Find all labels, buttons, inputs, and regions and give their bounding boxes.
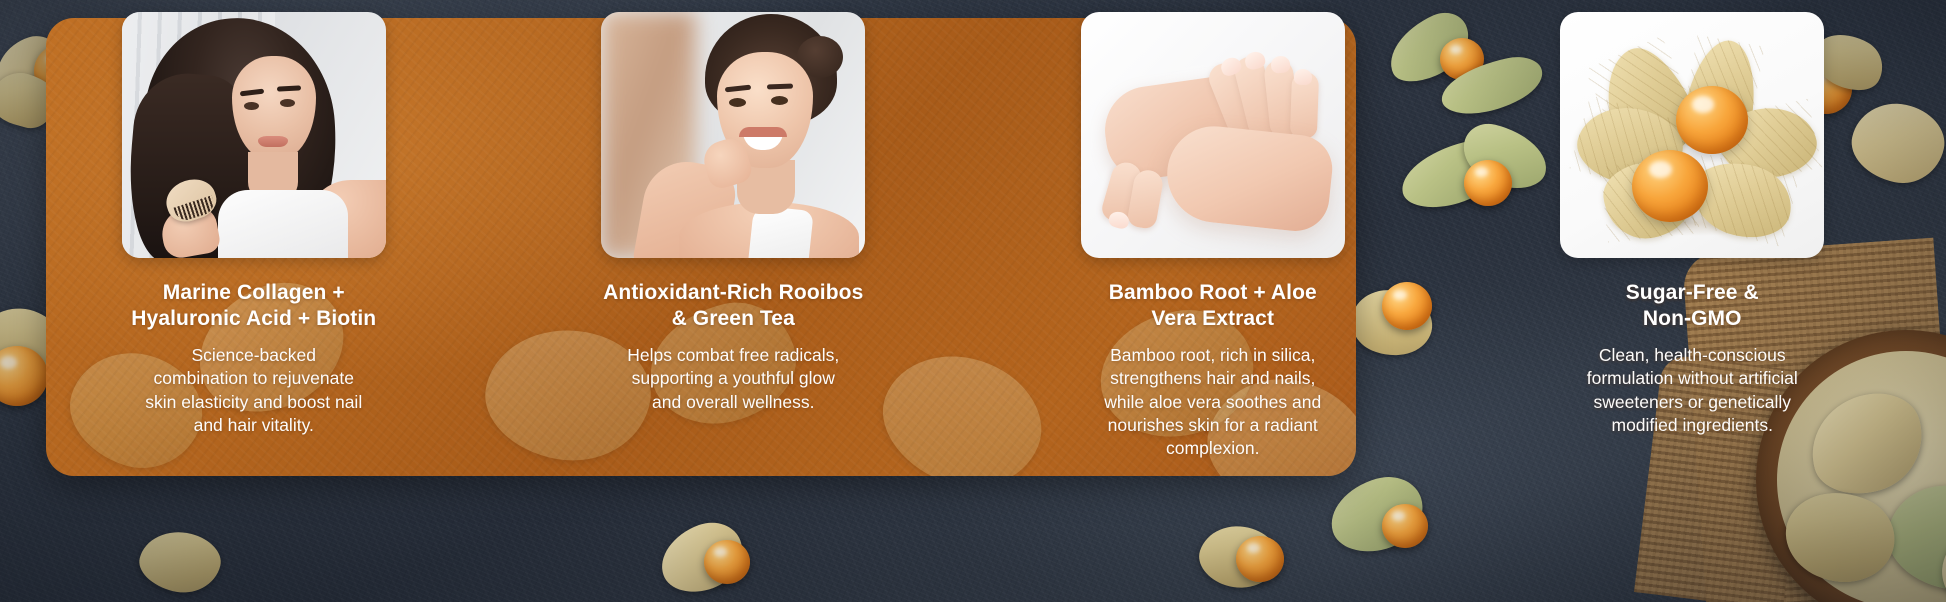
woman-brushing-hair-photo <box>122 12 386 258</box>
feature-card: Bamboo Root + Aloe Vera Extract Bamboo r… <box>973 12 1453 588</box>
card-title: Marine Collagen + Hyaluronic Acid + Biot… <box>131 280 376 331</box>
card-title: Sugar-Free & Non-GMO <box>1626 280 1759 331</box>
feature-card: Antioxidant-Rich Rooibos & Green Tea Hel… <box>494 12 974 588</box>
card-body: Bamboo root, rich in silica, strengthens… <box>1104 344 1321 460</box>
feature-card: Marine Collagen + Hyaluronic Acid + Biot… <box>14 12 494 588</box>
physalis-golden-berry-photo <box>1560 12 1824 258</box>
card-body: Helps combat free radicals, supporting a… <box>627 344 839 414</box>
card-title: Bamboo Root + Aloe Vera Extract <box>1109 280 1317 331</box>
feature-card-grid: Marine Collagen + Hyaluronic Acid + Biot… <box>0 0 1946 602</box>
card-body: Clean, health-conscious formulation with… <box>1587 344 1798 437</box>
hands-skin-nails-photo <box>1081 12 1345 258</box>
woman-touching-face-photo <box>601 12 865 258</box>
card-body: Science-backed combination to rejuvenate… <box>145 344 362 437</box>
card-title: Antioxidant-Rich Rooibos & Green Tea <box>603 280 863 331</box>
feature-card: Sugar-Free & Non-GMO Clean, health-consc… <box>1453 12 1933 588</box>
